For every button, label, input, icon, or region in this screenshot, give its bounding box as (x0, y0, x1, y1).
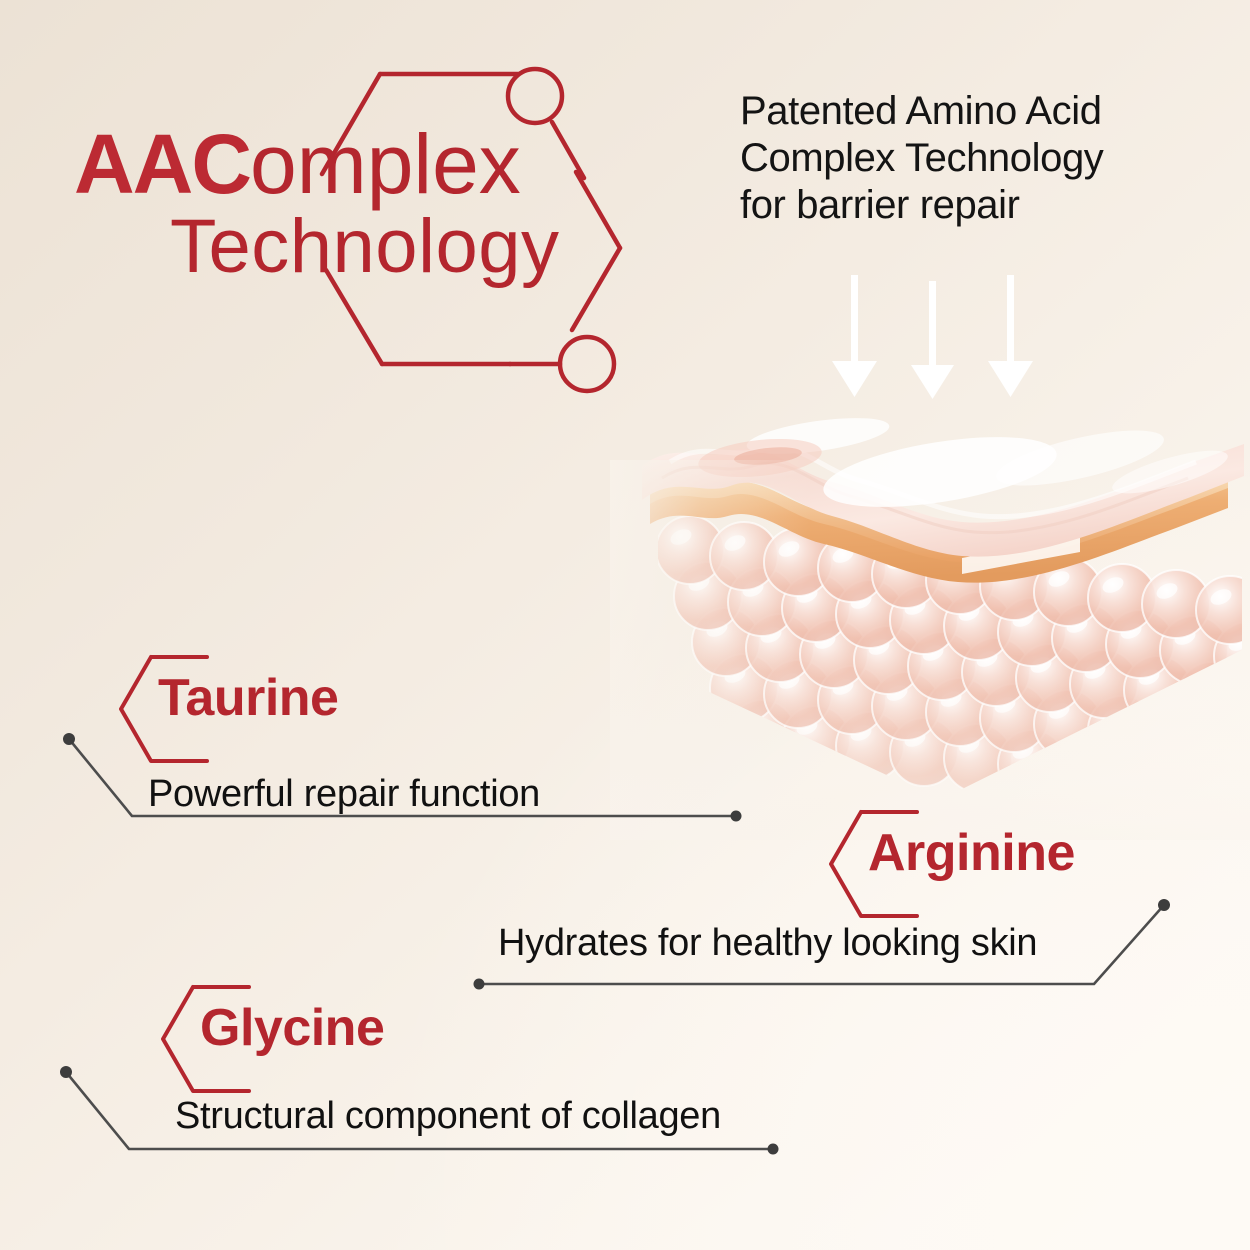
node-circle-bottom (560, 337, 614, 391)
headline-line-3: for barrier repair (740, 182, 1210, 229)
headline: Patented Amino Acid Complex Technology f… (740, 88, 1210, 230)
ingredient-label-arginine: Arginine (868, 823, 1075, 883)
ingredient-label-glycine: Glycine (200, 998, 384, 1058)
ingredient-label-taurine: Taurine (158, 668, 338, 728)
down-arrow-icon-3 (988, 275, 1033, 397)
down-arrow-icon-2 (911, 281, 954, 399)
aac-logo-block: AAComplex Technology (60, 52, 640, 362)
logo-technology-text: Technology (170, 211, 634, 284)
ingredient-row-glycine: Glycine Structural component of collagen (95, 975, 815, 1175)
headline-line-1: Patented Amino Acid (740, 88, 1210, 135)
absorption-arrows (820, 275, 1050, 400)
infographic-canvas: AAComplex Technology Patented Amino Acid… (0, 0, 1250, 1250)
headline-line-2: Complex Technology (740, 135, 1210, 182)
logo-wordmark: AAComplex Technology (74, 124, 634, 284)
down-arrow-icon-1 (832, 275, 877, 397)
connector-line-glycine (57, 1063, 797, 1173)
node-circle-top (508, 69, 562, 123)
logo-line-one: AAComplex (74, 124, 634, 205)
logo-aac-text: AAC (74, 117, 250, 211)
logo-omplex-text: omplex (250, 117, 521, 211)
